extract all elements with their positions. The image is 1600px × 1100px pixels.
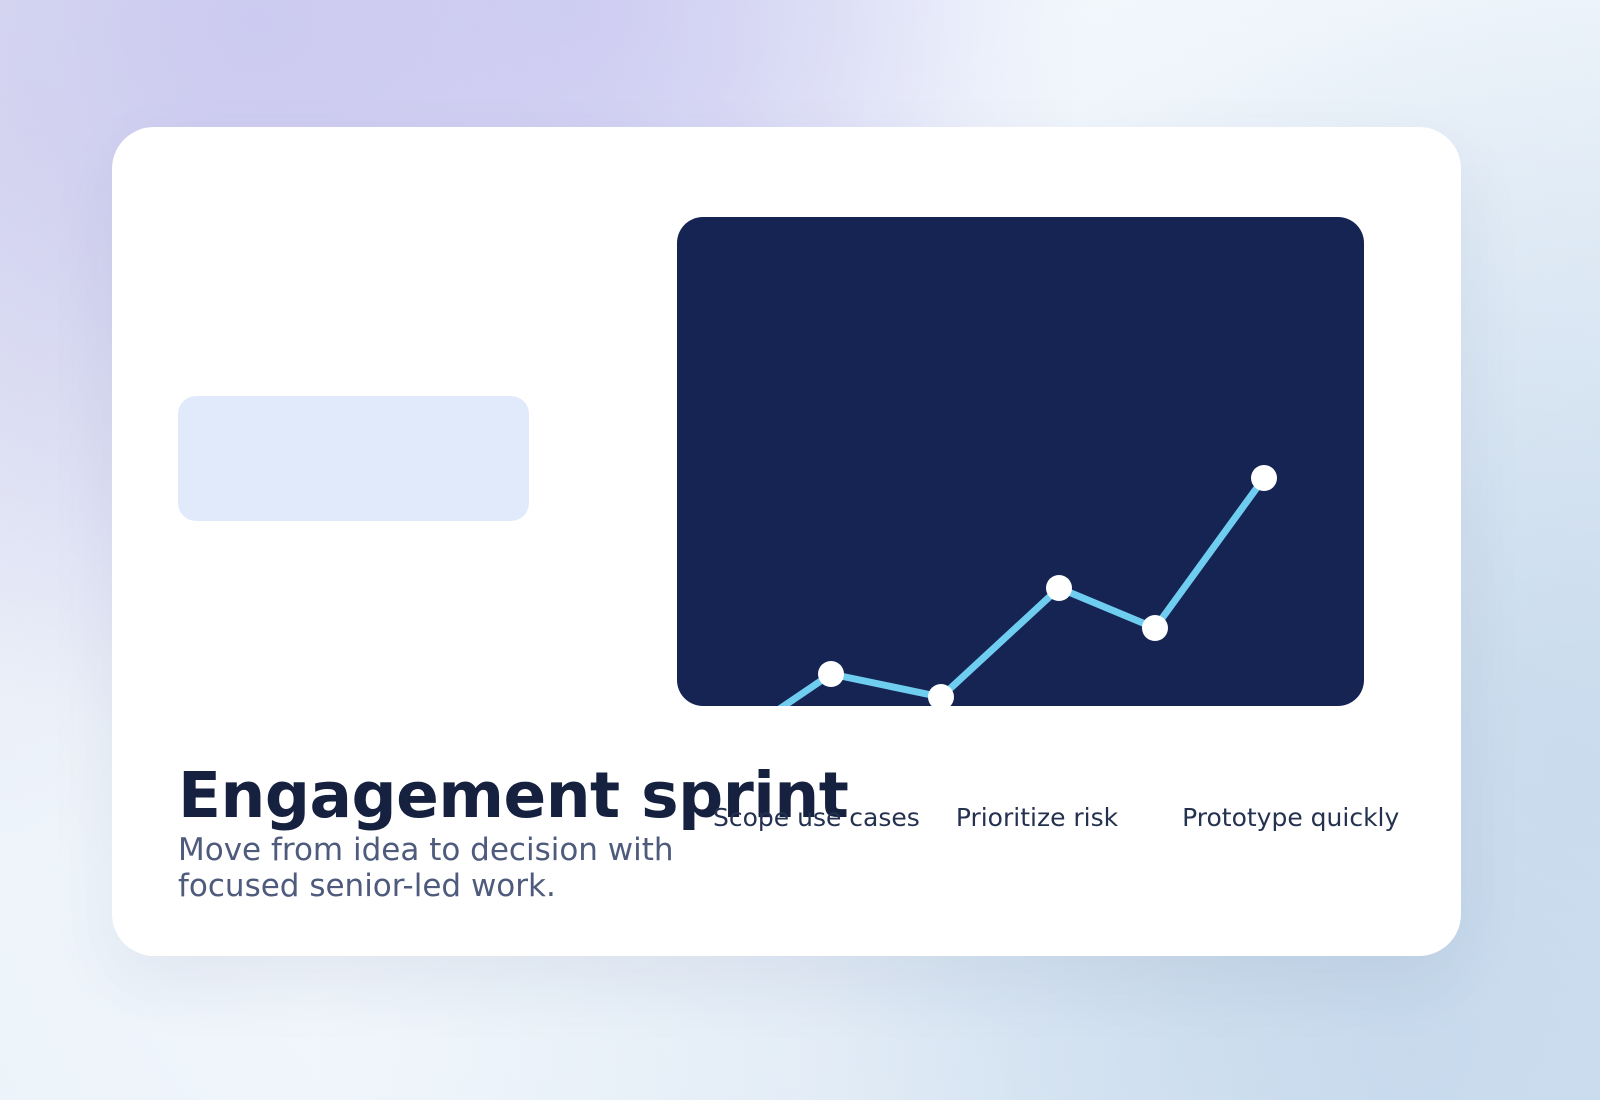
page-root: Engagement sprint Move from idea to deci… [0,0,1600,1100]
placeholder-block [178,396,529,521]
chart-panel [677,217,1364,706]
feature-caption-row: Scope use cases Prioritize risk Prototyp… [713,805,1399,830]
caption-scope-use-cases: Scope use cases [713,805,920,830]
chart-data-point [1142,615,1168,641]
chart-data-point [818,661,844,687]
page-subtitle: Move from idea to decision with focused … [178,832,738,905]
chart-data-point [1251,465,1277,491]
engagement-sprint-card: Engagement sprint Move from idea to deci… [112,127,1461,956]
chart-data-point [1046,575,1072,601]
chart-markers [731,465,1277,706]
caption-prioritize-risk: Prioritize risk [956,805,1118,830]
engagement-line-chart [677,217,1364,706]
caption-prototype-quickly: Prototype quickly [1182,805,1399,830]
